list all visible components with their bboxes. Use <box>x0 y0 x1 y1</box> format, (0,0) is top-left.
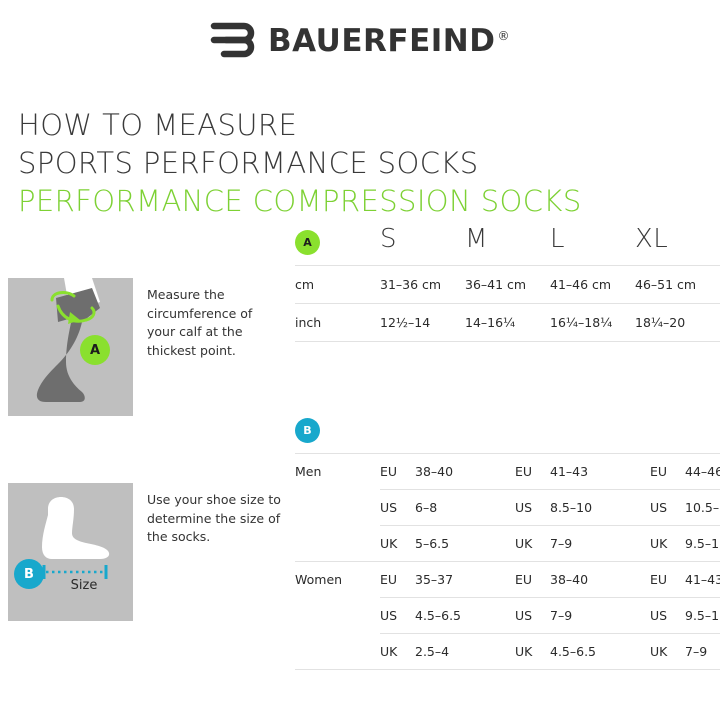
table-a-header-row: A S M L XL <box>295 222 720 266</box>
cell-men-eu-l: 44–46 <box>685 454 720 490</box>
cell-inch-xl: 18¼–20 <box>635 304 720 342</box>
group-label-men: Men <box>295 454 380 490</box>
cell-inch-m: 14–16¼ <box>465 304 550 342</box>
table-row: US 4.5–6.5 US 7–9 US 9.5–11 <box>295 598 720 634</box>
badge-b-illustration: B <box>14 559 44 589</box>
size-header-xl: XL <box>635 222 720 266</box>
group-label-women: Women <box>295 562 380 598</box>
table-row: Men EU 38–40 EU 41–43 EU 44–46 <box>295 454 720 490</box>
unit-women-us-2: US <box>515 598 550 634</box>
table-a-badge-cell: A <box>295 222 380 266</box>
size-header-s: S <box>380 222 465 266</box>
unit-men-us-3: US <box>650 490 685 526</box>
group-spacer-men-uk <box>295 526 380 562</box>
cell-women-us-s: 4.5–6.5 <box>415 598 515 634</box>
badge-b-table: B <box>295 418 320 443</box>
tables-column: A S M L XL cm 31–36 cm 36–41 cm 41–46 cm… <box>295 220 720 670</box>
illustration-b-text: Use your shoe size to determine the size… <box>133 483 283 547</box>
cell-women-eu-m: 38–40 <box>550 562 650 598</box>
table-b-wrapper: B Men EU 38–40 EU 41–43 EU 44–46 US 6–8 <box>295 342 720 670</box>
page-subtitle-line3: PERFORMANCE COMPRESSION SOCKS <box>18 182 720 220</box>
group-spacer-men-us <box>295 490 380 526</box>
unit-men-eu-3: EU <box>650 454 685 490</box>
unit-label-inch: inch <box>295 304 380 342</box>
bauerfeind-logo-mark-icon <box>210 19 258 63</box>
cell-men-eu-s: 38–40 <box>415 454 515 490</box>
unit-men-us-2: US <box>515 490 550 526</box>
unit-men-eu-2: EU <box>515 454 550 490</box>
illustration-block-a: A Measure the circumference of your calf… <box>8 278 295 416</box>
shoe-size-table: Men EU 38–40 EU 41–43 EU 44–46 US 6–8 US… <box>295 453 720 670</box>
cell-cm-xl: 46–51 cm <box>635 266 720 304</box>
leg-with-compression-sock-icon <box>8 278 133 416</box>
brand-wordmark: BAUERFEIND® <box>268 23 510 59</box>
calf-size-table: A S M L XL cm 31–36 cm 36–41 cm 41–46 cm… <box>295 222 720 342</box>
illustration-block-b: B Size Use your shoe size to determine t… <box>8 483 295 621</box>
cell-women-eu-l: 41–43 <box>685 562 720 598</box>
cell-women-eu-s: 35–37 <box>415 562 515 598</box>
unit-women-us-1: US <box>380 598 415 634</box>
illustration-a-text: Measure the circumference of your calf a… <box>133 278 283 360</box>
table-b-badge-row: B <box>295 412 720 453</box>
cell-inch-l: 16¼–18¼ <box>550 304 635 342</box>
cell-cm-m: 36–41 cm <box>465 266 550 304</box>
cell-cm-s: 31–36 cm <box>380 266 465 304</box>
table-row: US 6–8 US 8.5–10 US 10.5–12 <box>295 490 720 526</box>
cell-men-eu-m: 41–43 <box>550 454 650 490</box>
cell-men-us-s: 6–8 <box>415 490 515 526</box>
illustration-column: A Measure the circumference of your calf… <box>0 220 295 670</box>
group-spacer-women-uk <box>295 634 380 670</box>
badge-a-illustration: A <box>80 335 110 365</box>
page-title-line2: SPORTS PERFORMANCE SOCKS <box>18 144 720 182</box>
unit-men-uk-2: UK <box>515 526 550 562</box>
unit-women-eu-1: EU <box>380 562 415 598</box>
page-header: BAUERFEIND® <box>0 0 720 72</box>
table-row: inch 12½–14 14–16¼ 16¼–18¼ 18¼–20 <box>295 304 720 342</box>
table-a-wrapper: A S M L XL cm 31–36 cm 36–41 cm 41–46 cm… <box>295 220 720 342</box>
cell-men-uk-l: 9.5–11.5 <box>685 526 720 562</box>
badge-a-table: A <box>295 230 320 255</box>
cell-women-uk-l: 7–9 <box>685 634 720 670</box>
cell-women-us-l: 9.5–11 <box>685 598 720 634</box>
size-header-l: L <box>550 222 635 266</box>
cell-women-uk-m: 4.5–6.5 <box>550 634 650 670</box>
group-spacer-women-us <box>295 598 380 634</box>
cell-men-us-l: 10.5–12 <box>685 490 720 526</box>
foot-silhouette-icon <box>8 483 133 621</box>
cell-inch-s: 12½–14 <box>380 304 465 342</box>
unit-women-eu-3: EU <box>650 562 685 598</box>
unit-women-eu-2: EU <box>515 562 550 598</box>
unit-label-cm: cm <box>295 266 380 304</box>
unit-women-uk-1: UK <box>380 634 415 670</box>
unit-men-eu-1: EU <box>380 454 415 490</box>
cell-women-us-m: 7–9 <box>550 598 650 634</box>
cell-men-uk-s: 5–6.5 <box>415 526 515 562</box>
table-row: UK 2.5–4 UK 4.5–6.5 UK 7–9 <box>295 634 720 670</box>
brand-logo: BAUERFEIND® <box>210 19 510 63</box>
cell-women-uk-s: 2.5–4 <box>415 634 515 670</box>
unit-women-us-3: US <box>650 598 685 634</box>
table-row: cm 31–36 cm 36–41 cm 41–46 cm 46–51 cm <box>295 266 720 304</box>
cell-men-uk-m: 7–9 <box>550 526 650 562</box>
table-row: UK 5–6.5 UK 7–9 UK 9.5–11.5 <box>295 526 720 562</box>
unit-women-uk-3: UK <box>650 634 685 670</box>
unit-men-uk-1: UK <box>380 526 415 562</box>
calf-illustration-panel: A <box>8 278 133 416</box>
brand-name: BAUERFEIND <box>268 23 495 59</box>
unit-men-us-1: US <box>380 490 415 526</box>
cell-cm-l: 41–46 cm <box>550 266 635 304</box>
main-content: A Measure the circumference of your calf… <box>0 220 720 670</box>
foot-illustration-panel: B Size <box>8 483 133 621</box>
page-title-line1: HOW TO MEASURE <box>18 106 720 144</box>
unit-men-uk-3: UK <box>650 526 685 562</box>
registered-mark: ® <box>497 29 510 43</box>
size-caption: Size <box>48 578 120 593</box>
unit-women-uk-2: UK <box>515 634 550 670</box>
cell-men-us-m: 8.5–10 <box>550 490 650 526</box>
page-title-block: HOW TO MEASURE SPORTS PERFORMANCE SOCKS … <box>0 72 720 220</box>
size-header-m: M <box>465 222 550 266</box>
table-row: Women EU 35–37 EU 38–40 EU 41–43 <box>295 562 720 598</box>
